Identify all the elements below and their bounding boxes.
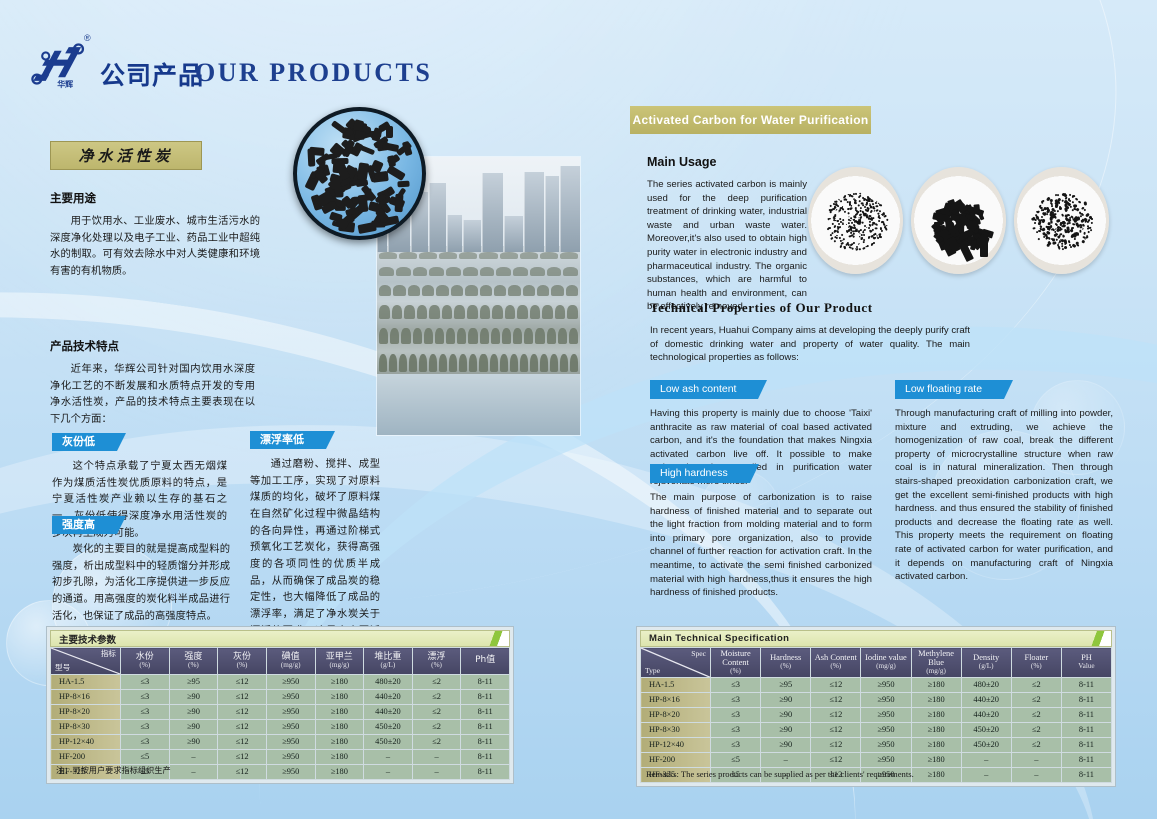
spec-col-header-4: 亚甲兰(mg/g) (315, 648, 364, 675)
corner-bottom-label: Type (645, 667, 660, 675)
product-circle-columnar (911, 167, 1006, 274)
spec-cell-5: 440±20 (364, 690, 413, 705)
feature-body-high-hardness-cn: 炭化的主要目的就是提高成型料的强度，析出成型料中的轻质馏分并形成初步孔隙，为活化… (52, 541, 230, 624)
spec-row-model: HP-8×30 (641, 723, 711, 738)
spec-col-header-6: 漂浮(%) (412, 648, 461, 675)
spec-cell-4: ≥180 (315, 765, 364, 780)
spec-cell-0: ≤3 (711, 723, 761, 738)
feature-tag-low-ash-cn: 灰份低 (52, 433, 117, 451)
page-header: 华辉 ® 公司产品 OUR PRODUCTS (0, 0, 1157, 112)
spec-cell-2: ≤12 (218, 690, 267, 705)
spec-cell-4: ≥180 (911, 738, 961, 753)
spec-cell-7: 8-11 (1061, 693, 1111, 708)
spec-cell-3: ≥950 (266, 705, 315, 720)
activated-carbon-closeup-circle (293, 107, 426, 240)
spec-cell-7: 8-11 (461, 750, 510, 765)
section-tech-properties-en: Technical Properties of Our Product In r… (650, 300, 970, 365)
spec-cell-6: – (412, 765, 461, 780)
spec-cell-6: – (412, 750, 461, 765)
spec-cell-3: ≥950 (266, 675, 315, 690)
spec-cell-6: ≤2 (1011, 708, 1061, 723)
spec-table-note-cn: 注：可按用户要求指标组织生产 (52, 764, 171, 776)
spec-cell-3: ≥950 (266, 750, 315, 765)
spec-col-header-3: Iodine value(mg/g) (861, 648, 911, 678)
spec-cell-1: ≥90 (761, 708, 811, 723)
spec-cell-2: ≤12 (218, 735, 267, 750)
feature-tag-low-floating-en: Low floating rate (895, 380, 1004, 399)
spec-cell-7: 8-11 (461, 675, 510, 690)
spec-cell-0: ≤3 (121, 675, 170, 690)
spec-cell-2: ≤12 (811, 693, 861, 708)
spec-cell-4: ≥180 (315, 735, 364, 750)
spec-cell-1: – (169, 750, 218, 765)
spec-cell-4: ≥180 (315, 720, 364, 735)
spec-row-model: HP-8×16 (51, 690, 121, 705)
spec-row-model: HP-12×40 (51, 735, 121, 750)
table-row: HP-8×16≤3≥90≤12≥950≥180440±20≤28-11 (51, 690, 510, 705)
corner-top-label: 指标 (101, 650, 116, 658)
spec-cell-1: ≥90 (761, 723, 811, 738)
spec-cell-3: ≥950 (266, 765, 315, 780)
spec-table-cn-grid: 指标型号水份(%)强度(%)灰份(%)碘值(mg/g)亚甲兰(mg/g)堆比重(… (50, 647, 510, 780)
spec-cell-1: ≥90 (169, 690, 218, 705)
spec-table-en-grid: SpecTypeMoisture Content(%)Hardness(%)As… (640, 647, 1112, 783)
spec-cell-7: 8-11 (461, 765, 510, 780)
columnar-carbon-heap-icon (931, 193, 987, 249)
spec-table-corner-cell: 指标型号 (51, 648, 121, 675)
product-title-text: 净水活性炭 (78, 145, 173, 166)
spec-cell-5: 480±20 (961, 678, 1011, 693)
feature-body-high-hardness-en: The main purpose of carbonization is to … (650, 491, 872, 600)
spec-cell-7: 8-11 (1061, 738, 1111, 753)
spec-cell-4: ≥180 (911, 678, 961, 693)
spec-cell-5: 480±20 (364, 675, 413, 690)
spec-cell-1: ≥90 (761, 693, 811, 708)
spec-cell-3: ≥950 (861, 693, 911, 708)
spec-row-model: HP-8×16 (641, 693, 711, 708)
table-row: HF-200≤5–≤12≥950≥180––8-11 (51, 750, 510, 765)
spec-col-header-1: Hardness(%) (761, 648, 811, 678)
feature-low-floating-cn: 漂浮率低 通过磨粉、搅拌、成型等加工工序，实现了对原料煤质的均化，破坏了原料煤在… (250, 430, 380, 656)
spec-cell-4: ≥180 (315, 690, 364, 705)
spec-table-cn-head: 指标型号水份(%)强度(%)灰份(%)碘值(mg/g)亚甲兰(mg/g)堆比重(… (51, 648, 510, 675)
section-banner-text-en: Activated Carbon for Water Purification (633, 113, 869, 127)
spec-cell-1: – (169, 765, 218, 780)
spec-cell-2: ≤12 (218, 765, 267, 780)
spec-cell-3: ≥950 (861, 723, 911, 738)
spec-row-model: HA-1.5 (641, 678, 711, 693)
spec-cell-4: ≥180 (911, 708, 961, 723)
spec-cell-2: ≤12 (218, 705, 267, 720)
spec-cell-1: – (761, 753, 811, 768)
spec-cell-5: – (961, 768, 1011, 783)
tech-features-heading-cn: 产品技术特点 (50, 338, 255, 354)
feature-high-hardness-en: High hardness The main purpose of carbon… (650, 463, 872, 600)
photo-filter-tanks (377, 252, 580, 380)
spec-cell-2: ≤12 (218, 720, 267, 735)
spec-cell-0: ≤3 (121, 690, 170, 705)
spec-cell-3: ≥950 (861, 753, 911, 768)
spec-cell-7: 8-11 (461, 690, 510, 705)
main-usage-heading-en: Main Usage (647, 155, 807, 169)
spec-col-header-0: Moisture Content(%) (711, 648, 761, 678)
spec-cell-7: 8-11 (1061, 678, 1111, 693)
spec-row-model: HP-8×30 (51, 720, 121, 735)
tech-properties-body-en: In recent years, Huahui Company aims at … (650, 324, 970, 365)
spec-cell-1: ≥90 (169, 735, 218, 750)
spec-cell-5: 450±20 (364, 735, 413, 750)
spec-col-header-5: Density(g/L) (961, 648, 1011, 678)
product-circle-powder (808, 167, 903, 274)
section-main-usage-en: Main Usage The series activated carbon i… (647, 155, 807, 314)
spec-cell-0: ≤3 (121, 705, 170, 720)
spec-cell-1: ≥90 (169, 705, 218, 720)
spec-cell-5: 450±20 (364, 720, 413, 735)
spec-table-title-text-en: Main Technical Specification (649, 633, 789, 644)
spec-cell-6: ≤2 (412, 675, 461, 690)
powder-carbon-heap-icon (825, 190, 887, 252)
spec-cell-3: ≥950 (266, 720, 315, 735)
tech-features-body-cn: 近年来，华辉公司针对国内饮用水深度净化工艺的不断发展和水质特点开发的专用净水活性… (50, 361, 255, 428)
huahui-logo-icon: 华辉 (28, 38, 90, 90)
table-row: HP-12×40≤3≥90≤12≥950≥180450±20≤28-11 (641, 738, 1112, 753)
spec-table-cn: 主要技术参数 指标型号水份(%)强度(%)灰份(%)碘值(mg/g)亚甲兰(mg… (46, 626, 514, 784)
corner-top-label: Spec (691, 650, 706, 658)
product-sample-circles (808, 167, 1113, 277)
table-row: HP-12×40≤3≥90≤12≥950≥180450±20≤28-11 (51, 735, 510, 750)
spec-cell-5: 440±20 (961, 693, 1011, 708)
spec-col-header-0: 水份(%) (121, 648, 170, 675)
spec-cell-6: ≤2 (1011, 693, 1061, 708)
spec-cell-5: 440±20 (364, 705, 413, 720)
table-row: HP-8×16≤3≥90≤12≥950≥180440±20≤28-11 (641, 693, 1112, 708)
table-row: HP-8×30≤3≥90≤12≥950≥180450±20≤28-11 (641, 723, 1112, 738)
spec-table-en: Main Technical Specification SpecTypeMoi… (636, 626, 1116, 787)
table-row: HP-8×20≤3≥90≤12≥950≥180440±20≤28-11 (641, 708, 1112, 723)
spec-cell-5: – (364, 750, 413, 765)
spec-cell-0: ≤3 (711, 738, 761, 753)
spec-cell-3: ≥950 (861, 678, 911, 693)
table-header-row: SpecTypeMoisture Content(%)Hardness(%)As… (641, 648, 1112, 678)
spec-table-en-body: HA-1.5≤3≥95≤12≥950≥180480±20≤28-11HP-8×1… (641, 678, 1112, 783)
spec-cell-6: ≤2 (1011, 678, 1061, 693)
feature-tag-low-ash-en: Low ash content (650, 380, 758, 399)
spec-cell-5: 450±20 (961, 738, 1011, 753)
spec-cell-6: ≤2 (1011, 723, 1061, 738)
spec-cell-1: ≥90 (169, 720, 218, 735)
table-row: HF-200≤5–≤12≥950≥180––8-11 (641, 753, 1112, 768)
spec-col-header-7: Ph值 (461, 648, 510, 675)
spec-cell-7: 8-11 (1061, 723, 1111, 738)
spec-cell-6: ≤2 (412, 705, 461, 720)
spec-cell-4: ≥180 (315, 675, 364, 690)
feature-tag-low-floating-cn: 漂浮率低 (250, 431, 326, 449)
spec-cell-6: ≤2 (412, 735, 461, 750)
spec-col-header-4: Methylene Blue(mg/g) (911, 648, 961, 678)
tech-properties-heading-en: Technical Properties of Our Product (650, 300, 970, 316)
spec-row-model: HA-1.5 (51, 675, 121, 690)
spec-cell-0: ≤5 (121, 750, 170, 765)
spec-row-model: HP-12×40 (641, 738, 711, 753)
spec-cell-0: ≤3 (711, 693, 761, 708)
spec-cell-3: ≥950 (861, 738, 911, 753)
spec-col-header-2: 灰份(%) (218, 648, 267, 675)
spec-table-en-head: SpecTypeMoisture Content(%)Hardness(%)As… (641, 648, 1112, 678)
spec-cell-6: ≤2 (1011, 738, 1061, 753)
spec-cell-7: 8-11 (1061, 768, 1111, 783)
spec-table-title-text-cn: 主要技术参数 (59, 632, 116, 646)
spec-cell-5: 440±20 (961, 708, 1011, 723)
spec-col-header-6: Floater(%) (1011, 648, 1061, 678)
spec-row-model: HP-8×20 (641, 708, 711, 723)
spec-cell-1: ≥95 (169, 675, 218, 690)
feature-tag-high-hardness-cn: 强度高 (52, 516, 117, 534)
spec-cell-2: ≤12 (811, 678, 861, 693)
spec-cell-0: ≤3 (121, 720, 170, 735)
spec-col-header-7: PHValue (1061, 648, 1111, 678)
spec-cell-4: ≥180 (315, 705, 364, 720)
spec-cell-6: ≤2 (412, 690, 461, 705)
spec-cell-3: ≥950 (266, 690, 315, 705)
spec-col-header-3: 碘值(mg/g) (266, 648, 315, 675)
spec-row-model: HF-200 (641, 753, 711, 768)
spec-cell-4: ≥180 (911, 753, 961, 768)
spec-cell-7: 8-11 (1061, 753, 1111, 768)
section-main-usage-cn: 主要用途 用于饮用水、工业废水、城市生活污水的深度净化处理以及电子工业、药品工业… (50, 190, 260, 280)
feature-high-hardness-cn: 强度高 炭化的主要目的就是提高成型料的强度，析出成型料中的轻质馏分并形成初步孔隙… (52, 515, 230, 624)
spec-cell-7: 8-11 (461, 735, 510, 750)
spec-cell-2: ≤12 (811, 723, 861, 738)
table-header-row: 指标型号水份(%)强度(%)灰份(%)碘值(mg/g)亚甲兰(mg/g)堆比重(… (51, 648, 510, 675)
spec-cell-4: ≥180 (315, 750, 364, 765)
spec-table-title-cn: 主要技术参数 (50, 630, 510, 647)
spec-table-note-en: Remarks: The series products can be supp… (642, 769, 914, 779)
spec-cell-2: ≤12 (811, 708, 861, 723)
brand-name-en: OUR PRODUCTS (195, 58, 432, 88)
spec-table-corner-cell: SpecType (641, 648, 711, 678)
spec-cell-7: 8-11 (1061, 708, 1111, 723)
spec-cell-5: 450±20 (961, 723, 1011, 738)
spec-cell-7: 8-11 (461, 705, 510, 720)
spec-cell-1: ≥90 (761, 738, 811, 753)
company-logo: 华辉 (28, 38, 108, 98)
spec-cell-2: ≤12 (811, 738, 861, 753)
brand-name-cn: 公司产品 (100, 56, 204, 92)
spec-cell-5: – (364, 765, 413, 780)
photo-water (377, 374, 580, 435)
spec-cell-0: ≤3 (121, 735, 170, 750)
feature-low-floating-en: Low floating rate Through manufacturing … (895, 379, 1113, 584)
main-usage-heading-cn: 主要用途 (50, 190, 260, 206)
main-usage-body-en: The series activated carbon is mainly us… (647, 178, 807, 314)
spec-col-header-5: 堆比重(g/L) (364, 648, 413, 675)
spec-cell-2: ≤12 (218, 750, 267, 765)
spec-cell-3: ≥950 (861, 708, 911, 723)
spec-cell-0: ≤3 (711, 678, 761, 693)
registered-trademark-icon: ® (84, 33, 91, 43)
spec-col-header-2: Ash Content(%) (811, 648, 861, 678)
section-tech-features-cn: 产品技术特点 近年来，华辉公司针对国内饮用水深度净化工艺的不断发展和水质特点开发… (50, 338, 255, 428)
spec-cell-7: 8-11 (461, 720, 510, 735)
spec-table-title-en: Main Technical Specification (640, 630, 1112, 647)
spec-cell-4: ≥180 (911, 768, 961, 783)
spec-cell-3: ≥950 (266, 735, 315, 750)
spec-cell-1: ≥95 (761, 678, 811, 693)
spec-cell-4: ≥180 (911, 723, 961, 738)
feature-body-low-floating-en: Through manufacturing craft of milling i… (895, 407, 1113, 584)
granular-carbon-heap-icon (1032, 191, 1092, 251)
spec-cell-6: – (1011, 753, 1061, 768)
table-row: HP-8×30≤3≥90≤12≥950≥180450±20≤28-11 (51, 720, 510, 735)
section-banner-en: Activated Carbon for Water Purification (630, 106, 871, 134)
table-row: HP-8×20≤3≥90≤12≥950≥180440±20≤28-11 (51, 705, 510, 720)
table-row: HA-1.5≤3≥95≤12≥950≥180480±20≤28-11 (51, 675, 510, 690)
spec-cell-4: ≥180 (911, 693, 961, 708)
spec-cell-6: – (1011, 768, 1061, 783)
svg-text:华辉: 华辉 (57, 79, 73, 89)
spec-row-model: HP-8×20 (51, 705, 121, 720)
spec-cell-0: ≤5 (711, 753, 761, 768)
main-usage-body-cn: 用于饮用水、工业废水、城市生活污水的深度净化处理以及电子工业、药品工业中超纯水的… (50, 213, 260, 280)
spec-cell-2: ≤12 (811, 753, 861, 768)
spec-cell-5: – (961, 753, 1011, 768)
product-circle-granular (1014, 167, 1109, 274)
spec-cell-0: ≤3 (711, 708, 761, 723)
spec-cell-2: ≤12 (218, 675, 267, 690)
spec-cell-6: ≤2 (412, 720, 461, 735)
brochure-page: 华辉 ® 公司产品 OUR PRODUCTS 净水活性炭 主要用途 用于饮用水、… (0, 0, 1157, 819)
corner-bottom-label: 型号 (55, 664, 70, 672)
feature-tag-high-hardness-en: High hardness (650, 464, 750, 483)
table-row: HA-1.5≤3≥95≤12≥950≥180480±20≤28-11 (641, 678, 1112, 693)
spec-col-header-1: 强度(%) (169, 648, 218, 675)
product-title-tag: 净水活性炭 (50, 141, 202, 170)
spec-row-model: HF-200 (51, 750, 121, 765)
